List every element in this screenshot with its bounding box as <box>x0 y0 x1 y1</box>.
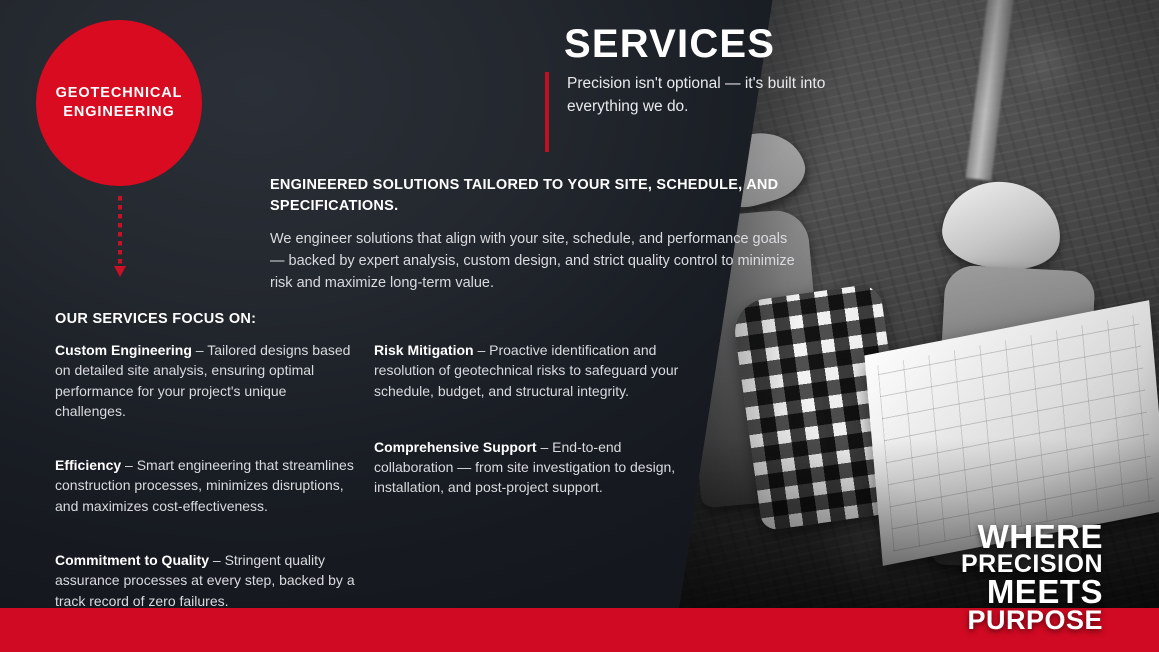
service-item: Custom Engineering – Tailored designs ba… <box>55 340 355 421</box>
slogan-line-4: PURPOSE <box>961 608 1103 634</box>
slogan-line-1: WHERE <box>961 521 1103 553</box>
intro-block: ENGINEERED SOLUTIONS TAILORED TO YOUR SI… <box>270 175 800 294</box>
slogan-block: WHERE PRECISION MEETS PURPOSE <box>961 521 1103 634</box>
service-item: Risk Mitigation – Proactive identificati… <box>374 340 684 401</box>
intro-body: We engineer solutions that align with yo… <box>270 228 800 294</box>
services-column-left: Custom Engineering – Tailored designs ba… <box>55 340 355 645</box>
service-term: Risk Mitigation <box>374 342 474 358</box>
service-item: Comprehensive Support – End-to-end colla… <box>374 437 684 498</box>
service-term: Custom Engineering <box>55 342 192 358</box>
services-column-right: Risk Mitigation – Proactive identificati… <box>374 340 684 534</box>
page-title: SERVICES <box>564 22 775 67</box>
tagline-block: Precision isn't optional — it's built in… <box>545 72 827 152</box>
badge-label: GEOTECHNICAL ENGINEERING <box>56 84 183 123</box>
arrow-dotted-line <box>118 196 122 268</box>
service-term: Commitment to Quality <box>55 552 209 568</box>
tagline-text: Precision isn't optional — it's built in… <box>567 72 827 152</box>
slogan-line-3: MEETS <box>961 576 1103 608</box>
tagline-accent-bar <box>545 72 549 152</box>
service-term: Efficiency <box>55 457 121 473</box>
services-focus-heading: OUR SERVICES FOCUS ON: <box>55 311 256 327</box>
services-slide: GEOTECHNICAL ENGINEERING SERVICES Precis… <box>0 0 1159 652</box>
service-item: Commitment to Quality – Stringent qualit… <box>55 550 355 611</box>
service-term: Comprehensive Support <box>374 439 537 455</box>
service-item: Efficiency – Smart engineering that stre… <box>55 455 355 516</box>
dotted-down-arrow-icon <box>113 196 127 284</box>
geotechnical-engineering-badge: GEOTECHNICAL ENGINEERING <box>36 20 202 186</box>
arrow-head-icon <box>114 266 126 277</box>
intro-heading: ENGINEERED SOLUTIONS TAILORED TO YOUR SI… <box>270 175 800 216</box>
